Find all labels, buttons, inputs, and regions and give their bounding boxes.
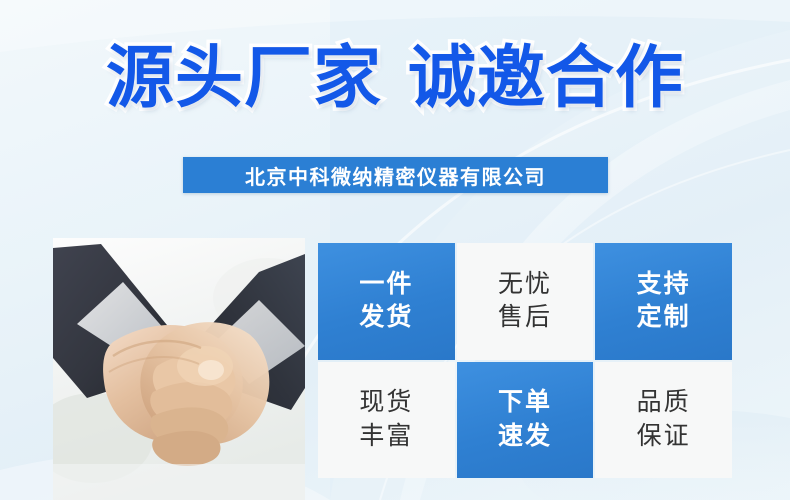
headline-part-2: 诚邀合作 xyxy=(408,40,684,116)
feature-line-1: 无忧 xyxy=(498,268,552,302)
feature-line-1: 品质 xyxy=(637,386,691,420)
page-title: 源头厂家诚邀合作 xyxy=(0,38,790,118)
feature-line-2: 定制 xyxy=(637,301,691,335)
promo-banner: 源头厂家诚邀合作 北京中科微纳精密仪器有限公司 xyxy=(0,0,790,500)
handshake-photo xyxy=(53,238,305,500)
feature-cell-worry-free-service[interactable]: 无忧 售后 xyxy=(457,243,594,360)
feature-cell-ample-stock[interactable]: 现货 丰富 xyxy=(318,362,455,479)
company-name-label: 北京中科微纳精密仪器有限公司 xyxy=(245,161,546,190)
feature-cell-fast-dispatch[interactable]: 下单 速发 xyxy=(457,362,594,479)
feature-grid: 一件 发货 无忧 售后 支持 定制 现货 丰富 下单 速发 品质 保证 xyxy=(318,243,732,478)
feature-cell-quality-guarantee[interactable]: 品质 保证 xyxy=(595,362,732,479)
feature-line-2: 发货 xyxy=(359,301,413,335)
feature-line-1: 支持 xyxy=(637,268,691,302)
headline-part-1: 源头厂家 xyxy=(106,40,382,116)
feature-line-2: 速发 xyxy=(498,420,552,454)
feature-cell-one-piece-shipping[interactable]: 一件 发货 xyxy=(318,243,455,360)
feature-line-1: 一件 xyxy=(359,268,413,302)
feature-line-1: 下单 xyxy=(498,386,552,420)
company-name-bar: 北京中科微纳精密仪器有限公司 xyxy=(183,157,608,193)
feature-line-2: 保证 xyxy=(637,420,691,454)
feature-line-1: 现货 xyxy=(359,386,413,420)
feature-line-2: 丰富 xyxy=(359,420,413,454)
feature-line-2: 售后 xyxy=(498,301,552,335)
feature-cell-customization-support[interactable]: 支持 定制 xyxy=(595,243,732,360)
